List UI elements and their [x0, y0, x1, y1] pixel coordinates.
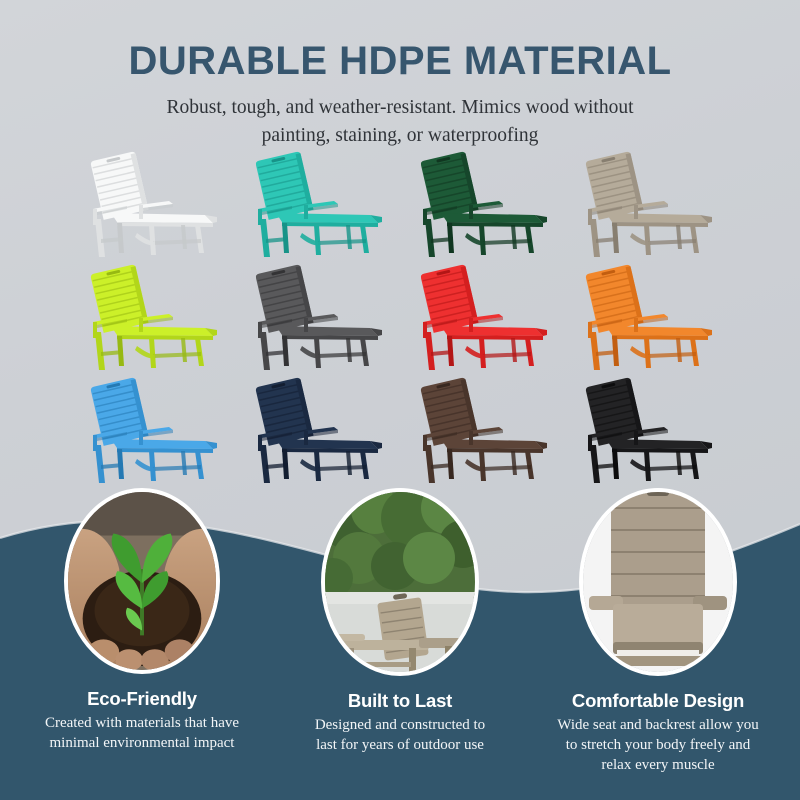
feature-description: Wide seat and backrest allow you to stre… — [538, 716, 778, 775]
chair-swatch-orange[interactable] — [565, 263, 730, 376]
chaise-lounge-icon — [242, 266, 394, 374]
chair-swatch-turquoise[interactable] — [235, 150, 400, 263]
comfortable-design-image — [579, 488, 737, 676]
chair-swatch-white[interactable] — [70, 150, 235, 263]
chair-swatch-red[interactable] — [400, 263, 565, 376]
feature-built-to-last: Built to Last Designed and constructed t… — [280, 488, 520, 756]
header: DURABLE HDPE MATERIAL Robust, tough, and… — [0, 0, 800, 149]
subtitle-line-2: painting, staining, or waterproofing — [0, 122, 800, 150]
chaise-lounge-icon — [572, 266, 724, 374]
chair-color-grid — [70, 150, 730, 490]
chair-swatch-lime-green[interactable] — [70, 263, 235, 376]
feature-eco-friendly: Eco-Friendly Created with materials that… — [22, 488, 262, 754]
chair-swatch-black[interactable] — [565, 377, 730, 490]
chair-swatch-weathered-wood[interactable] — [565, 150, 730, 263]
feature-desc-line-2: to stretch your body freely and — [538, 736, 778, 756]
chaise-lounge-icon — [572, 379, 724, 487]
chair-swatch-sky-blue[interactable] — [70, 377, 235, 490]
feature-desc-line-2: minimal environmental impact — [22, 734, 262, 754]
chaise-lounge-icon — [407, 379, 559, 487]
chaise-lounge-icon — [77, 153, 229, 261]
subtitle-line-1: Robust, tough, and weather-resistant. Mi… — [0, 94, 800, 122]
page-subtitle: Robust, tough, and weather-resistant. Mi… — [0, 82, 800, 149]
feature-description: Created with materials that have minimal… — [22, 714, 262, 754]
chaise-lounge-icon — [77, 266, 229, 374]
chaise-lounge-icon — [407, 153, 559, 261]
chaise-lounge-icon — [77, 379, 229, 487]
feature-comfortable-design: Comfortable Design Wide seat and backres… — [538, 488, 778, 775]
chair-swatch-brown[interactable] — [400, 377, 565, 490]
chair-swatch-dark-gray[interactable] — [235, 263, 400, 376]
feature-desc-line-2: last for years of outdoor use — [280, 736, 520, 756]
feature-desc-line-1: Created with materials that have — [22, 714, 262, 734]
feature-title: Built to Last — [280, 690, 520, 712]
chair-swatch-navy-blue[interactable] — [235, 377, 400, 490]
feature-desc-line-3: relax every muscle — [538, 756, 778, 776]
feature-description: Designed and constructed to last for yea… — [280, 716, 520, 756]
eco-friendly-image — [64, 488, 220, 674]
infographic-page: DURABLE HDPE MATERIAL Robust, tough, and… — [0, 0, 800, 800]
feature-desc-line-1: Wide seat and backrest allow you — [538, 716, 778, 736]
feature-row: Eco-Friendly Created with materials that… — [0, 488, 800, 800]
feature-desc-line-1: Designed and constructed to — [280, 716, 520, 736]
feature-title: Eco-Friendly — [22, 688, 262, 710]
feature-title: Comfortable Design — [538, 690, 778, 712]
chaise-lounge-icon — [242, 153, 394, 261]
chair-swatch-dark-green[interactable] — [400, 150, 565, 263]
built-to-last-image — [321, 488, 479, 676]
chaise-lounge-icon — [242, 379, 394, 487]
chaise-lounge-icon — [572, 153, 724, 261]
page-title: DURABLE HDPE MATERIAL — [0, 0, 800, 82]
chaise-lounge-icon — [407, 266, 559, 374]
